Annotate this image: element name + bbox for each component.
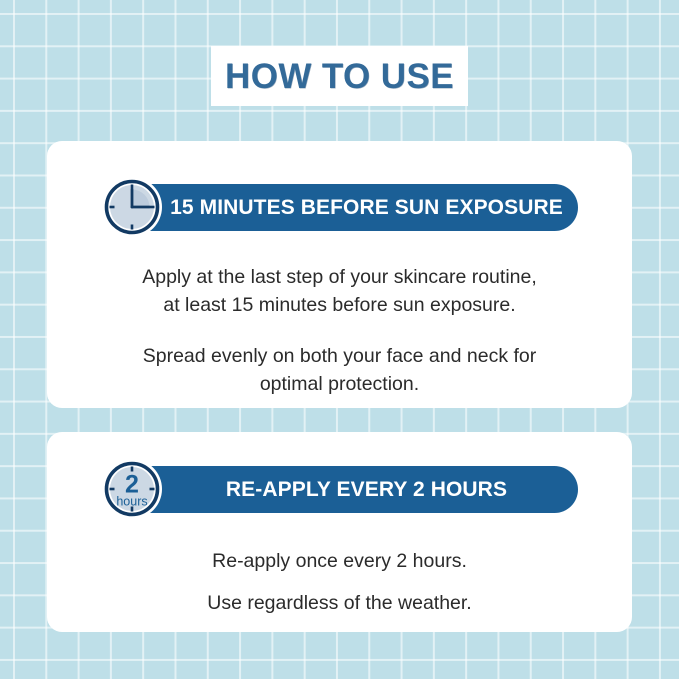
two-hours-badge-icon: 2 hours xyxy=(101,458,163,520)
card-2-heading-label: RE-APPLY EVERY 2 HOURS xyxy=(226,479,507,500)
card-2-heading-pill: RE-APPLY EVERY 2 HOURS xyxy=(107,466,578,513)
card-1-paragraph-1-line-1: Apply at the last step of your skincare … xyxy=(47,264,632,292)
card-2-paragraph-1-line-1: Re-apply once every 2 hours. xyxy=(47,548,632,576)
svg-text:hours: hours xyxy=(116,495,147,509)
card-2-paragraph-1: Re-apply once every 2 hours. xyxy=(47,548,632,576)
card-2-paragraph-2: Use regardless of the weather. xyxy=(47,590,632,618)
card-1-paragraph-1-line-2: at least 15 minutes before sun exposure. xyxy=(47,292,632,320)
card-2-paragraph-2-line-1: Use regardless of the weather. xyxy=(47,590,632,618)
card-1-paragraph-2-line-1: Spread evenly on both your face and neck… xyxy=(47,343,632,371)
card-1-heading-label: 15 MINUTES BEFORE SUN EXPOSURE xyxy=(170,197,563,218)
instruction-card-2: RE-APPLY EVERY 2 HOURS 2 hours Re-apply … xyxy=(47,432,632,632)
clock-icon xyxy=(101,176,163,238)
instruction-card-1: 15 MINUTES BEFORE SUN EXPOSURE A xyxy=(47,141,632,408)
poster-canvas: HOW TO USE 15 MINUTES BEFORE SUN EXPOSUR… xyxy=(0,0,679,679)
card-1-header: 15 MINUTES BEFORE SUN EXPOSURE xyxy=(47,176,632,240)
page-title: HOW TO USE xyxy=(225,59,454,94)
page-title-banner: HOW TO USE xyxy=(211,46,468,106)
card-1-paragraph-2-line-2: optimal protection. xyxy=(47,371,632,399)
card-1-paragraph-2: Spread evenly on both your face and neck… xyxy=(47,343,632,398)
card-1-paragraph-1: Apply at the last step of your skincare … xyxy=(47,264,632,319)
card-2-header: RE-APPLY EVERY 2 HOURS 2 hours xyxy=(47,458,632,522)
card-1-heading-pill: 15 MINUTES BEFORE SUN EXPOSURE xyxy=(107,184,578,231)
